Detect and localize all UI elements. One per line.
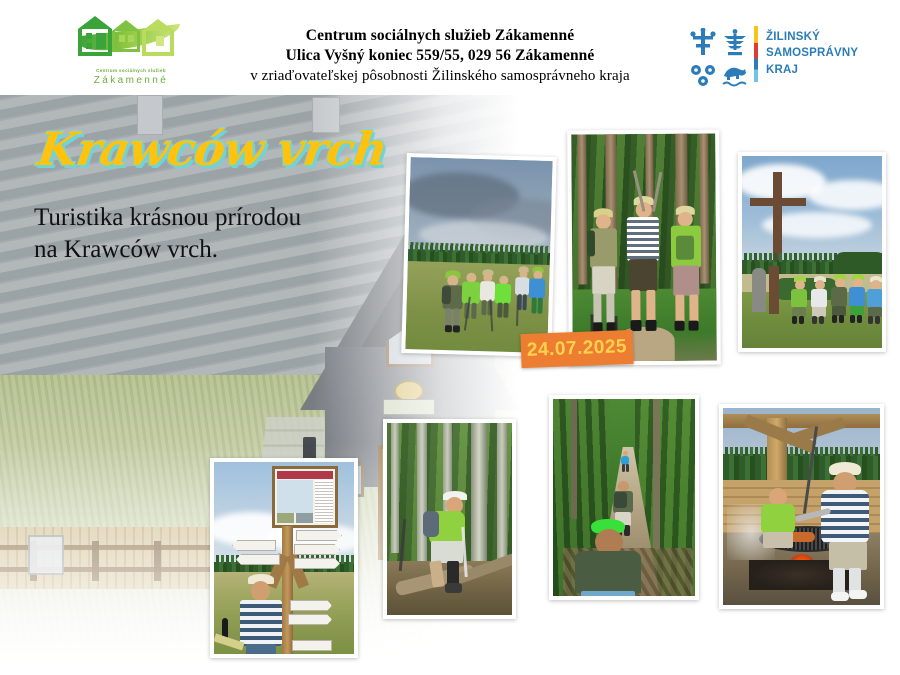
photo-grilling[interactable] (719, 404, 884, 609)
date-badge-text: 24.07.2025 (527, 336, 628, 362)
poster-header: Centrum sociálnych služieb Zákamenné Cen… (0, 0, 900, 95)
seated-person (866, 276, 882, 324)
trail-arrow-sign (292, 640, 332, 651)
house-body (78, 29, 112, 56)
zsk-emblem (688, 28, 750, 80)
trail-arrow-sign (236, 554, 280, 565)
hiker-figure (494, 275, 513, 321)
house-window (96, 33, 106, 49)
seated-person (810, 276, 829, 324)
summit-cross-horizontal (750, 198, 806, 206)
seated-person (830, 274, 849, 324)
lion-icon (720, 60, 750, 90)
house-icon-2 (112, 20, 140, 52)
photo-forest-trail[interactable] (549, 395, 699, 600)
house-window (86, 33, 92, 39)
house-window (86, 43, 92, 49)
photo-hiker-climbing[interactable] (383, 419, 516, 619)
org-logo: Centrum sociálnych služieb Zákamenné (76, 14, 186, 94)
photo-cross-image (742, 156, 882, 348)
house-window (119, 35, 125, 42)
header-line-1: Centrum sociálnych služieb Zákamenné (195, 26, 685, 46)
tree-trunk (571, 399, 577, 519)
tree-trunk (497, 423, 507, 573)
house-roof (142, 19, 174, 31)
house-window (156, 36, 164, 46)
header-line-3: v zriaďovateľskej pôsobnosti Žilinského … (195, 67, 685, 87)
double-cross-icon (688, 28, 718, 58)
trail-arrow-sign (294, 544, 340, 555)
header-line-2: Ulica Vyšný koniec 559/55, 029 56 Zákame… (195, 46, 685, 66)
man-figure-right (668, 206, 705, 338)
photo-trio-in-forest[interactable] (567, 129, 721, 365)
three-houses-logo-icon (76, 14, 186, 66)
photo-trio-image (571, 134, 717, 362)
org-logo-name: Zákamenné (76, 75, 186, 86)
org-logo-tagline: Centrum sociálnych služieb (76, 68, 186, 73)
seated-person (790, 276, 809, 324)
man-figure-middle (624, 196, 663, 336)
zilinsky-samospravny-kraj-logo: ŽILINSKÝ SAMOSPRÁVNY KRAJ (688, 26, 868, 86)
standing-grilling-man (815, 462, 873, 602)
trail-map-board (272, 466, 338, 528)
distant-hiker (620, 451, 630, 473)
wooden-post (769, 266, 779, 314)
page-title: Krawców vrch (34, 122, 390, 176)
poster-canvas: Centrum sociálnych služieb Zákamenné Cen… (0, 0, 900, 675)
zsk-line-3: KRAJ (766, 62, 858, 78)
header-address-block: Centrum sociálnych služieb Zákamenné Uli… (195, 26, 685, 87)
trail-arrow-sign (232, 540, 276, 551)
photo-hikers[interactable] (401, 153, 557, 357)
house-icon-1 (78, 16, 112, 56)
seated-person (848, 274, 867, 324)
trail-arrow-sign (288, 614, 332, 625)
zsk-line-2: SAMOSPRÁVNY (766, 45, 858, 61)
house-roof (78, 16, 112, 29)
trail-arrow-sign (294, 558, 340, 569)
hiker-figure (528, 266, 547, 316)
photo-signpost-image (214, 462, 354, 654)
tree-trunk (391, 423, 399, 553)
zsk-line-1: ŽILINSKÝ (766, 29, 858, 45)
house-window (128, 35, 134, 42)
house-roof (112, 20, 140, 31)
trail-arrow-sign (296, 530, 342, 541)
date-badge: 24.07.2025 (520, 330, 633, 368)
photo-hikers-image (405, 157, 552, 353)
poster-subtitle: Turistika krásnou prírodou na Krawców vr… (34, 202, 314, 266)
three-circles-icon (688, 60, 718, 90)
tree-trunk (653, 399, 660, 549)
photo-climb-image (387, 423, 512, 615)
zsk-color-bar (754, 26, 758, 82)
trail-arrow-sign (290, 600, 332, 611)
photo-trail-signpost[interactable] (210, 458, 358, 658)
house-body (112, 31, 140, 52)
tree-of-life-icon (720, 28, 750, 58)
zsk-wordmark: ŽILINSKÝ SAMOSPRÁVNY KRAJ (766, 29, 858, 78)
squatting-man (757, 488, 799, 550)
photo-grill-image (723, 408, 880, 605)
photo-summit-cross[interactable] (738, 152, 886, 352)
house-icon-3 (142, 19, 174, 56)
photo-trail-image (553, 399, 695, 596)
foreground-hiker (571, 519, 647, 596)
stone-marker (752, 268, 766, 312)
man-with-hat-figure (238, 574, 284, 654)
house-body (142, 31, 174, 56)
